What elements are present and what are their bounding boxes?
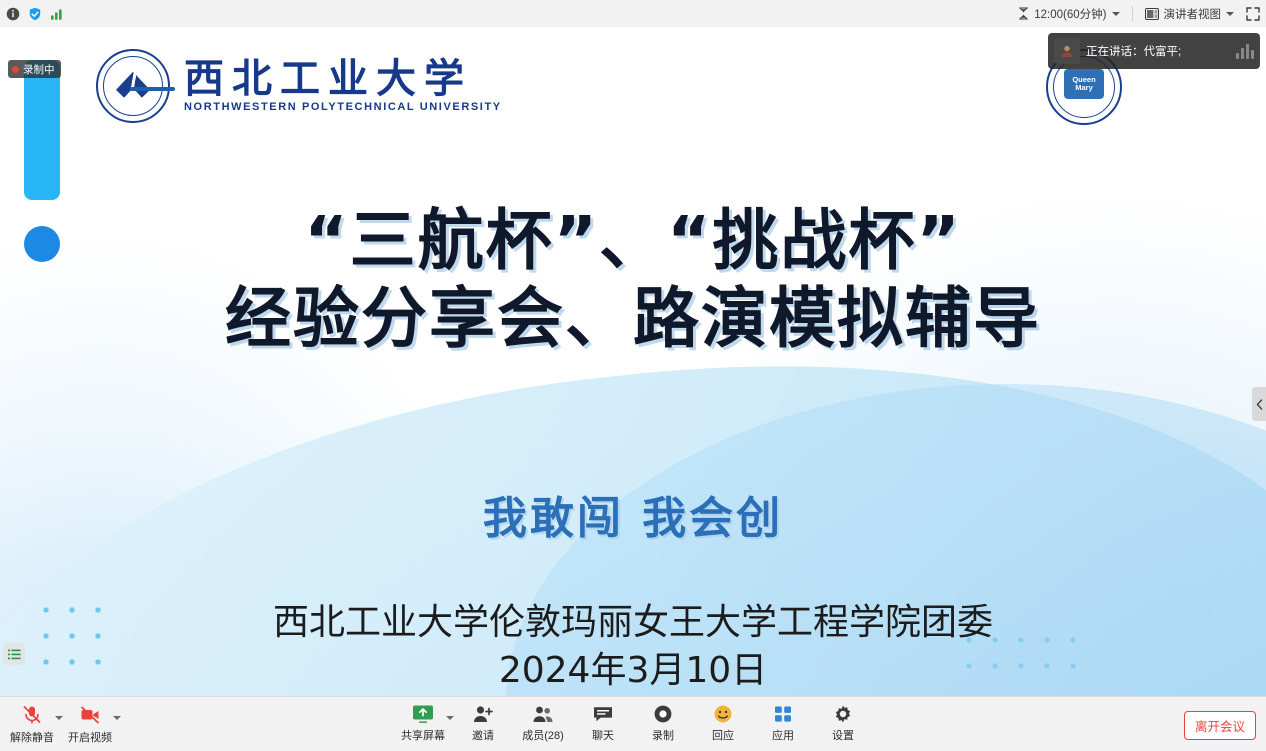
apps-grid-icon [772,704,794,724]
meeting-timer-label: 12:00(60分钟) [1034,6,1106,22]
fullscreen-icon[interactable] [1246,7,1260,21]
slide-org-line1: 西北工业大学伦敦玛丽女王大学工程学院团委 [0,599,1266,647]
chat-label: 聊天 [592,727,614,743]
invite-person-icon [472,704,494,724]
meeting-timer[interactable]: 12:00(60分钟) [1018,6,1119,22]
shared-screen-slide: 西北工业大学 NORTHWESTERN POLYTECHNICAL UNIVER… [0,27,1266,724]
reaction-smiley-icon [712,704,734,724]
participants-label: 成员(28) [522,727,564,743]
recording-indicator[interactable]: 录制中 [8,60,61,78]
participants-icon [532,704,554,724]
meeting-toolbar: 解除静音 开启视频 共享屏幕 [0,696,1266,751]
active-speaker-tile[interactable]: 正在讲话：代富平; [1048,33,1260,69]
record-circle-icon [652,704,674,724]
queen-mary-logo-text: Queen Mary [1064,69,1104,99]
top-toolbar: 12:00(60分钟) 演讲者视图 [0,0,1266,28]
layout-icon [1145,8,1159,20]
apps-label: 应用 [772,727,794,743]
view-switcher-label: 演讲者视图 [1164,6,1222,22]
meeting-window: 12:00(60分钟) 演讲者视图 [0,0,1266,751]
toolbar-left-group: 解除静音 开启视频 [4,700,118,751]
invite-button[interactable]: 邀请 [455,700,511,751]
camera-muted-icon [79,704,101,726]
chevron-up-icon[interactable] [113,716,121,720]
slide-org-date: 2024年3月10日 [0,647,1266,695]
chevron-down-icon[interactable] [1112,12,1120,16]
chevron-up-icon[interactable] [446,716,454,720]
npu-logo: 西北工业大学 NORTHWESTERN POLYTECHNICAL UNIVER… [96,49,502,123]
apps-button[interactable]: 应用 [755,700,811,751]
gear-icon [832,704,854,724]
participant-avatar[interactable] [24,226,60,262]
hourglass-icon [1018,7,1029,20]
chat-bubble-icon [592,704,614,724]
toolbar-divider [1132,6,1133,21]
view-switcher[interactable]: 演讲者视图 [1145,6,1235,22]
top-left-icons [6,0,64,27]
mic-muted-icon [21,704,43,726]
recording-label: 录制中 [23,62,55,77]
chevron-down-icon[interactable] [1226,12,1234,16]
toolbar-right-group: 离开会议 [1184,711,1256,740]
unmute-button[interactable]: 解除静音 [4,700,60,751]
thumbnail-list-button[interactable] [3,643,25,665]
start-video-button[interactable]: 开启视频 [62,700,118,751]
npu-seal-icon [96,49,170,123]
record-button[interactable]: 录制 [635,700,691,751]
top-right-controls: 12:00(60分钟) 演讲者视图 [1018,0,1260,27]
signal-bars-icon[interactable] [50,7,64,21]
shield-check-icon[interactable] [28,7,42,21]
slide-accent-bar [130,87,175,91]
info-icon[interactable] [6,7,20,21]
participants-button[interactable]: 成员(28) [515,700,571,751]
audio-level-icon [1236,43,1254,59]
chat-button[interactable]: 聊天 [575,700,631,751]
npu-logo-en: NORTHWESTERN POLYTECHNICAL UNIVERSITY [184,101,502,113]
slide-organization: 西北工业大学伦敦玛丽女王大学工程学院团委 2024年3月10日 [0,599,1266,694]
slide-title-line2: 经验分享会、路演模拟辅导 [0,280,1266,358]
share-screen-button[interactable]: 共享屏幕 [395,700,451,751]
invite-label: 邀请 [472,727,494,743]
active-speaker-label: 正在讲话：代富平; [1086,43,1181,59]
settings-button[interactable]: 设置 [815,700,871,751]
record-label: 录制 [652,727,674,743]
slide-title-line1: “三航杯”、“挑战杯” [0,202,1266,280]
settings-label: 设置 [832,727,854,743]
slide-subtitle: 我敢闯 我会创 [0,482,1266,546]
npu-logo-cn: 西北工业大学 [184,59,502,99]
reactions-label: 回应 [712,727,734,743]
leave-meeting-button[interactable]: 离开会议 [1184,711,1256,740]
recording-dot-icon [12,66,19,73]
slide-title: “三航杯”、“挑战杯” 经验分享会、路演模拟辅导 [0,202,1266,358]
unmute-label: 解除静音 [10,729,54,745]
speaker-thumbnail [1054,38,1080,64]
reactions-button[interactable]: 回应 [695,700,751,751]
self-video-tile[interactable] [24,60,60,200]
collapse-panel-button[interactable] [1252,387,1266,421]
share-screen-label: 共享屏幕 [401,727,445,743]
toolbar-center-group: 共享屏幕 邀请 成员(28) 聊天 [395,700,871,751]
start-video-label: 开启视频 [68,729,112,745]
share-screen-icon [412,704,434,724]
